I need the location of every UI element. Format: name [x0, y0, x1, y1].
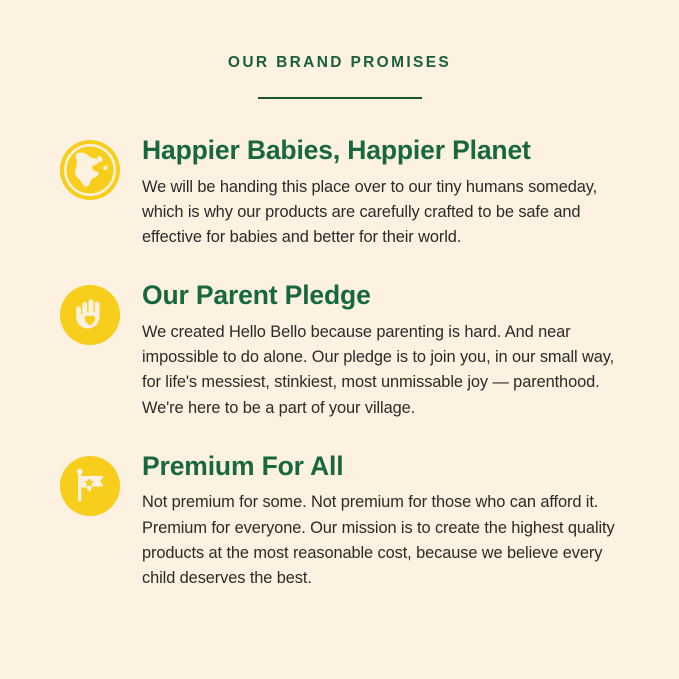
promise-text: We created Hello Bello because parenting…: [142, 320, 632, 421]
page-header: OUR BRAND PROMISES: [0, 0, 679, 99]
promise-text: Not premium for some. Not premium for th…: [142, 490, 632, 591]
page-title: OUR BRAND PROMISES: [0, 54, 679, 71]
promise-content: Happier Babies, Happier Planet We will b…: [142, 135, 632, 250]
promise-item: Our Parent Pledge We created Hello Bello…: [59, 280, 639, 421]
title-divider: [258, 97, 422, 99]
promise-list: Happier Babies, Happier Planet We will b…: [0, 135, 679, 591]
globe-icon: [59, 139, 121, 201]
promise-item: Happier Babies, Happier Planet We will b…: [59, 135, 639, 250]
promise-content: Premium For All Not premium for some. No…: [142, 451, 632, 592]
promise-title: Premium For All: [142, 451, 632, 481]
promise-title: Happier Babies, Happier Planet: [142, 135, 632, 165]
promise-text: We will be handing this place over to ou…: [142, 175, 632, 251]
promise-title: Our Parent Pledge: [142, 280, 632, 310]
promise-content: Our Parent Pledge We created Hello Bello…: [142, 280, 632, 421]
promise-item: Premium For All Not premium for some. No…: [59, 451, 639, 592]
flag-star-icon: [59, 455, 121, 517]
hand-heart-icon: [59, 284, 121, 346]
brand-promises-page: OUR BRAND PROMISES Happier Babies, Happi…: [0, 0, 679, 679]
